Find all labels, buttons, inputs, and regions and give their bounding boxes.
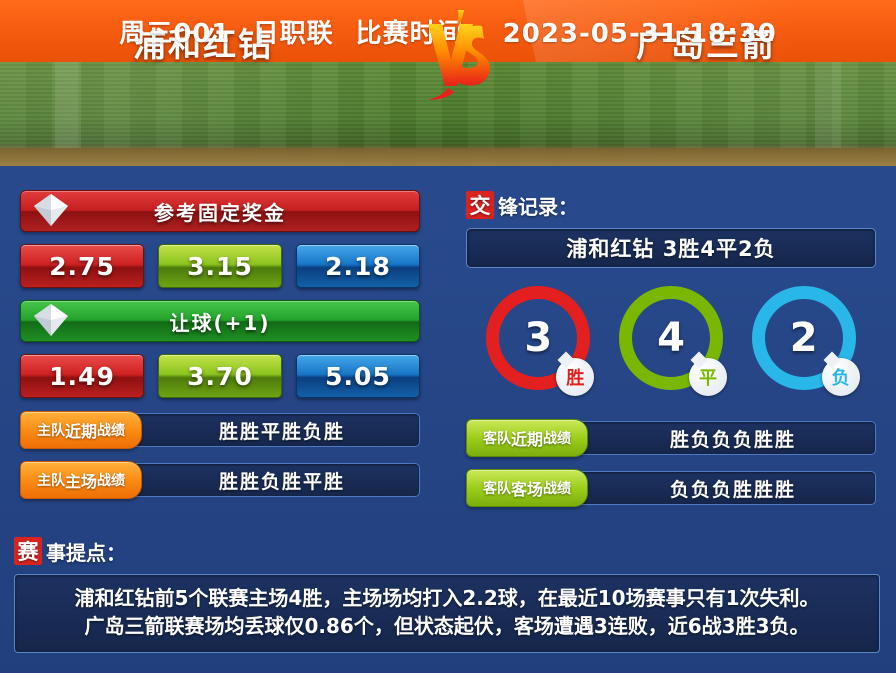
tag-mid: 客场	[511, 476, 543, 500]
ring-win-badge: 胜	[556, 358, 594, 396]
h2h-ring-draw: 4 平	[619, 286, 723, 390]
kickoff-time: 2023-05-31 18:30	[503, 19, 777, 49]
tag-prefix: 主队	[37, 420, 65, 440]
away-away-form-value: 负负负胜胜胜	[576, 471, 876, 505]
tips-line-2: 广岛三箭联赛场均丢球仅0.86个，但状态起伏，客场遭遇3连败，近6战3胜3负。	[25, 612, 869, 640]
tips-label-box: 赛	[14, 537, 42, 565]
tag-suffix: 战绩	[543, 478, 571, 498]
vs-flame-icon	[418, 8, 498, 104]
h2h-label-box: 交	[466, 191, 494, 219]
tag-prefix: 客队	[483, 428, 511, 448]
home-recent-form-tag: 主队近期战绩	[20, 411, 142, 449]
tips-box: 浦和红钻前5个联赛主场4胜，主场场均打入2.2球，在最近10场赛事只有1次失利。…	[14, 574, 880, 653]
pitch-stripe-left	[55, 62, 81, 148]
h2h-section-label: 交 锋记录：	[466, 190, 876, 220]
tag-prefix: 客队	[483, 478, 511, 498]
match-tips: 赛 事提点： 浦和红钻前5个联赛主场4胜，主场场均打入2.2球，在最近10场赛事…	[14, 536, 880, 653]
tag-mid: 近期	[65, 418, 97, 442]
away-recent-form-row: 客队近期战绩 胜负负负胜胜	[466, 420, 876, 456]
handicap-title: 让球(+1)	[170, 307, 271, 336]
odd-away-win[interactable]: 2.18	[296, 244, 420, 288]
handicap-odd-draw[interactable]: 3.70	[158, 354, 282, 398]
handicap-odd-home-win[interactable]: 1.49	[20, 354, 144, 398]
h2h-summary: 浦和红钻 3胜4平2负	[466, 228, 876, 268]
fixed-odds-title: 参考固定奖金	[154, 197, 286, 226]
ring-win-badge-label: 胜	[566, 364, 584, 390]
h2h-panel: 交 锋记录： 浦和红钻 3胜4平2负 3 胜 4 平 2 负 客队近	[466, 190, 876, 506]
h2h-ring-loss: 2 负	[752, 286, 856, 390]
handicap-odds-row: 1.49 3.70 5.05	[20, 354, 420, 398]
ring-draw-badge-label: 平	[699, 364, 717, 390]
home-recent-form-value: 胜胜平胜负胜	[130, 413, 420, 447]
fixed-odds-title-bar: 参考固定奖金	[20, 190, 420, 232]
fixed-odds-row: 2.75 3.15 2.18	[20, 244, 420, 288]
handicap-title-bar: 让球(+1)	[20, 300, 420, 342]
odd-draw[interactable]: 3.15	[158, 244, 282, 288]
pitch-stripe-right	[815, 62, 841, 148]
away-recent-form-value: 胜负负负胜胜	[576, 421, 876, 455]
tag-prefix: 主队	[37, 470, 65, 490]
home-home-form-tag: 主队主场战绩	[20, 461, 142, 499]
home-recent-form-row: 主队近期战绩 胜胜平胜负胜	[20, 412, 420, 448]
away-recent-form-tag: 客队近期战绩	[466, 419, 588, 457]
tag-mid: 近期	[511, 426, 543, 450]
away-away-form-tag: 客队客场战绩	[466, 469, 588, 507]
tag-suffix: 战绩	[97, 420, 125, 440]
ring-loss-badge-label: 负	[832, 364, 850, 390]
h2h-ring-win: 3 胜	[486, 286, 590, 390]
away-away-form-row: 客队客场战绩 负负负胜胜胜	[466, 470, 876, 506]
diamond-gem-icon	[33, 303, 69, 337]
odd-home-win[interactable]: 2.75	[20, 244, 144, 288]
ring-loss-badge: 负	[822, 358, 860, 396]
h2h-rings: 3 胜 4 平 2 负	[466, 286, 876, 390]
tips-section-label: 赛 事提点：	[14, 536, 880, 566]
match-number: 周三001	[119, 19, 230, 49]
h2h-label-rest: 锋记录：	[498, 191, 578, 220]
match-preview-card: 周三001 日职联 比赛时间：2023-05-31 18:30 浦和红钻 广岛三…	[0, 0, 896, 673]
tag-mid: 主场	[65, 468, 97, 492]
odds-panel: 参考固定奖金 2.75 3.15 2.18 让球(+1) 1.49 3.70 5…	[20, 190, 420, 498]
league-name: 日职联	[253, 19, 334, 49]
diamond-gem-icon	[33, 193, 69, 227]
tips-label-rest: 事提点：	[46, 537, 126, 566]
tag-suffix: 战绩	[543, 428, 571, 448]
tag-suffix: 战绩	[97, 470, 125, 490]
home-home-form-value: 胜胜负胜平胜	[130, 463, 420, 497]
ring-draw-badge: 平	[689, 358, 727, 396]
tips-line-1: 浦和红钻前5个联赛主场4胜，主场场均打入2.2球，在最近10场赛事只有1次失利。	[25, 584, 869, 612]
home-home-form-row: 主队主场战绩 胜胜负胜平胜	[20, 462, 420, 498]
handicap-odd-away-win[interactable]: 5.05	[296, 354, 420, 398]
